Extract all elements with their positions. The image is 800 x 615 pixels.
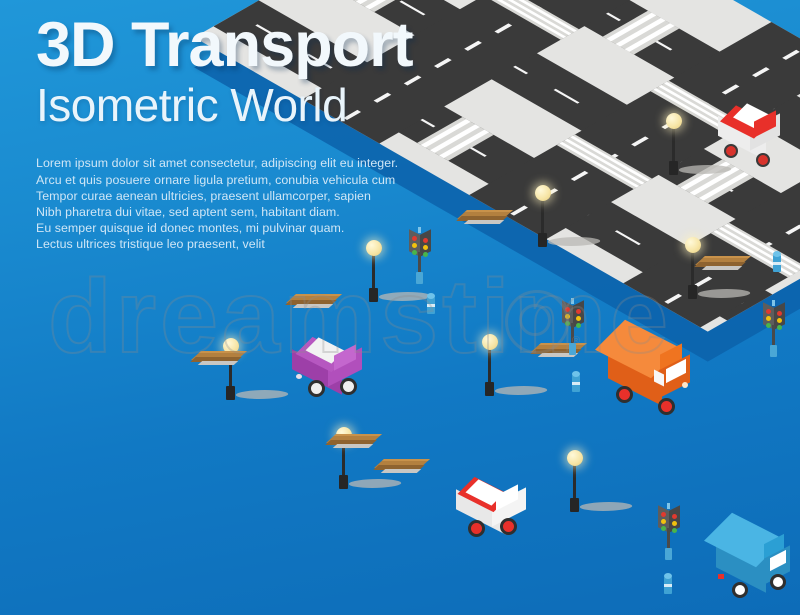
page-subtitle: Isometric World xyxy=(36,81,596,129)
body-line: Tempor curae aenean ultricies, praesent … xyxy=(36,188,596,204)
headline-block: 3D Transport Isometric World Lorem ipsum… xyxy=(36,14,596,253)
body-paragraph: Lorem ipsum dolor sit amet consectetur, … xyxy=(36,155,596,252)
body-line: Lectus ultrices tristique leo praesent, … xyxy=(36,236,596,252)
page-title: 3D Transport xyxy=(36,14,596,77)
body-line: Eu semper quisque id donec montes, mi pu… xyxy=(36,220,596,236)
body-line: Lorem ipsum dolor sit amet consectetur, … xyxy=(36,155,596,171)
poster-root: 3D Transport Isometric World Lorem ipsum… xyxy=(0,0,800,615)
body-line: Arcu et quis posuere ornare ligula preti… xyxy=(36,172,596,188)
body-line: Nibh pharetra dui vitae, sed aptent sem,… xyxy=(36,204,596,220)
